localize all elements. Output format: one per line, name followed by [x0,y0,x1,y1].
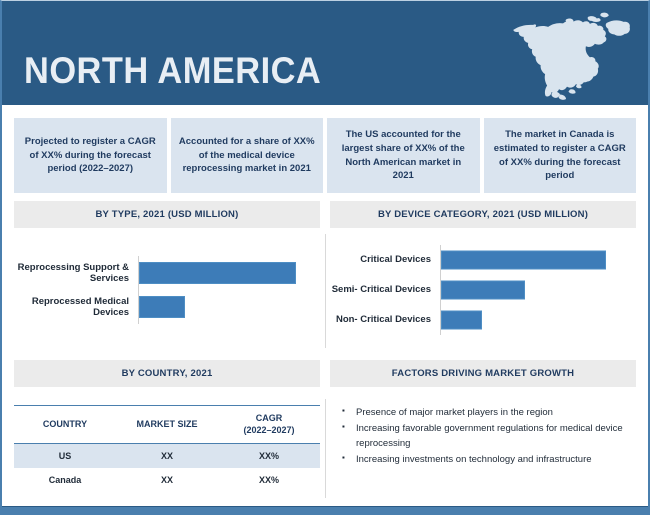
list-item: Increasing investments on technology and… [356,453,630,467]
stat-card-us-share: The US accounted for the largest share o… [327,118,480,193]
section-title-by-device-category: BY DEVICE CATEGORY, 2021 (USD MILLION) [330,201,636,228]
charts-container: Reprocessing Support & Services Reproces… [2,228,648,350]
bar-track [138,256,320,290]
column-header-market-size: MARKET SIZE [116,406,218,444]
bar-fill [441,311,482,330]
bottom-content-row: COUNTRY MARKET SIZE CAGR (2022–2027) US … [2,387,648,492]
panel-by-country: BY COUNTRY, 2021 [14,360,320,387]
bar-track [440,245,636,275]
bar-row: Reprocessed Medical Devices [14,290,320,324]
cell-cagr: XX% [218,444,320,469]
bar-chart-by-type: Reprocessing Support & Services Reproces… [14,228,320,350]
column-header-cagr-line1: CAGR [256,413,283,423]
list-item: Presence of major market players in the … [356,406,630,420]
bar-track [440,275,636,305]
bar-fill [441,251,606,270]
bar-chart-by-device-category: Critical Devices Semi- Critical Devices … [330,228,636,350]
table-row: Canada XX XX% [14,468,320,492]
cell-country: US [14,444,116,469]
country-table: COUNTRY MARKET SIZE CAGR (2022–2027) US … [14,405,320,492]
panel-by-type: BY TYPE, 2021 (USD MILLION) [14,201,320,228]
section-title-factors: FACTORS DRIVING MARKET GROWTH [330,360,636,387]
bar-label: Reprocessed Medical Devices [14,296,138,319]
stat-card-canada-cagr: The market in Canada is estimated to reg… [484,118,637,193]
header-banner: NORTH AMERICA [2,1,648,105]
section-title-by-country: BY COUNTRY, 2021 [14,360,320,387]
cell-country: Canada [14,468,116,492]
stat-card-cagr: Projected to register a CAGR of XX% duri… [14,118,167,193]
column-header-country: COUNTRY [14,406,116,444]
bar-label: Semi- Critical Devices [330,284,440,295]
list-item: Increasing favorable government regulati… [356,422,630,451]
infographic-frame: NORTH AMERICA [0,0,650,515]
panel-by-device-category: BY DEVICE CATEGORY, 2021 (USD MILLION) [330,201,636,228]
bar-row: Non- Critical Devices [330,305,636,335]
factors-list: Presence of major market players in the … [330,406,636,467]
bottom-title-row: BY COUNTRY, 2021 FACTORS DRIVING MARKET … [2,350,648,387]
bar-label: Reprocessing Support & Services [14,262,138,285]
bar-fill [139,262,296,284]
cell-cagr: XX% [218,468,320,492]
bottom-accent-bar [2,506,648,515]
factors-container: Presence of major market players in the … [330,399,636,492]
bar-fill [139,296,185,318]
bar-row: Critical Devices [330,245,636,275]
panel-factors: FACTORS DRIVING MARKET GROWTH [330,360,636,387]
stat-card-row: Projected to register a CAGR of XX% duri… [2,105,648,201]
section-title-by-type: BY TYPE, 2021 (USD MILLION) [14,201,320,228]
table-row: US XX XX% [14,444,320,469]
bar-row: Reprocessing Support & Services [14,256,320,290]
bar-label: Non- Critical Devices [330,314,440,325]
bar-fill [441,281,525,300]
column-header-cagr-line2: (2022–2027) [243,425,294,435]
cell-market-size: XX [116,444,218,469]
bar-track [138,290,320,324]
table-header-row: COUNTRY MARKET SIZE CAGR (2022–2027) [14,406,320,444]
bar-label: Critical Devices [330,254,440,265]
chart-title-row: BY TYPE, 2021 (USD MILLION) BY DEVICE CA… [2,201,648,228]
bar-row: Semi- Critical Devices [330,275,636,305]
column-header-cagr: CAGR (2022–2027) [218,406,320,444]
north-america-map-icon [504,9,634,101]
bar-track [440,305,636,335]
page-title: NORTH AMERICA [24,52,321,89]
country-table-container: COUNTRY MARKET SIZE CAGR (2022–2027) US … [14,399,320,492]
stat-card-market-share: Accounted for a share of XX% of the medi… [171,118,324,193]
cell-market-size: XX [116,468,218,492]
